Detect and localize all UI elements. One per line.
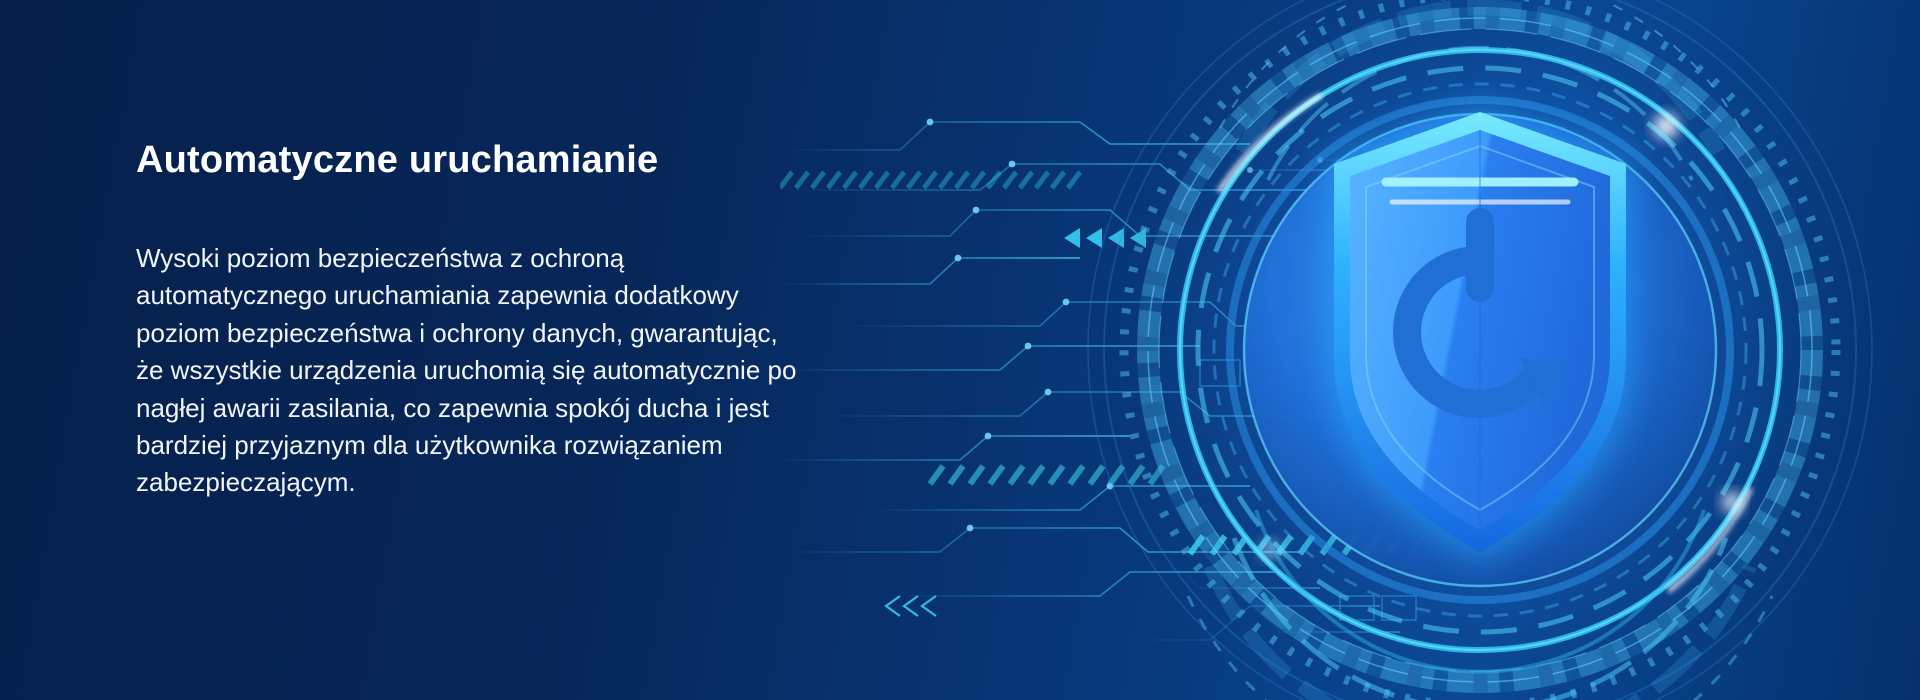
body-line: zabezpieczającym.	[136, 464, 936, 501]
body-line: automatycznego uruchamiania zapewnia dod…	[136, 277, 936, 314]
body-line: nagłej awarii zasilania, co zapewnia spo…	[136, 390, 936, 427]
shield-graphic	[1020, 0, 1920, 700]
feature-banner: Automatyczne uruchamianie Wysoki poziom …	[0, 0, 1920, 700]
body-line: Wysoki poziom bezpieczeństwa z ochroną	[136, 240, 936, 277]
body-line: poziom bezpieczeństwa i ochrony danych, …	[136, 315, 936, 352]
body-line: że wszystkie urządzenia uruchomią się au…	[136, 352, 936, 389]
body-copy: Wysoki poziom bezpieczeństwa z ochroną a…	[136, 240, 936, 502]
body-line: bardziej przyjaznym dla użytkownika rozw…	[136, 427, 936, 464]
page-title: Automatyczne uruchamianie	[136, 140, 966, 182]
text-block: Automatyczne uruchamianie Wysoki poziom …	[136, 140, 966, 502]
